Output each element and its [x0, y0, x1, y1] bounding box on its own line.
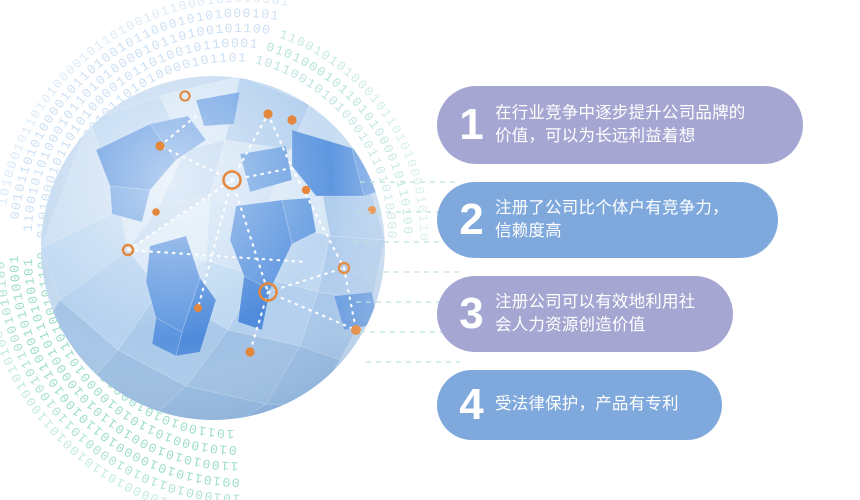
benefit-text-4: 受法律保护，产品有专利 — [495, 393, 679, 416]
benefit-text-1: 在行业竞争中逐步提升公司品牌的 价值，可以为长远利益着想 — [495, 102, 746, 149]
benefit-item-4[interactable]: 4 受法律保护，产品有专利 — [437, 370, 722, 440]
slide-canvas: 1011001010100010110101000010110100101100… — [0, 0, 860, 500]
benefit-number-1: 1 — [453, 103, 489, 147]
benefit-text-2: 注册了公司比个体户有竞争力， 信赖度高 — [495, 197, 729, 244]
benefit-number-4: 4 — [453, 383, 489, 427]
benefit-number-2: 2 — [453, 198, 489, 242]
benefit-item-3[interactable]: 3 注册公司可以有效地利用社 会人力资源创造价值 — [437, 276, 733, 352]
benefit-text-3: 注册公司可以有效地利用社 会人力资源创造价值 — [495, 291, 695, 338]
benefit-item-2[interactable]: 2 注册了公司比个体户有竞争力， 信赖度高 — [437, 182, 778, 258]
benefit-number-3: 3 — [453, 292, 489, 336]
benefit-item-1[interactable]: 1 在行业竞争中逐步提升公司品牌的 价值，可以为长远利益着想 — [437, 86, 803, 164]
